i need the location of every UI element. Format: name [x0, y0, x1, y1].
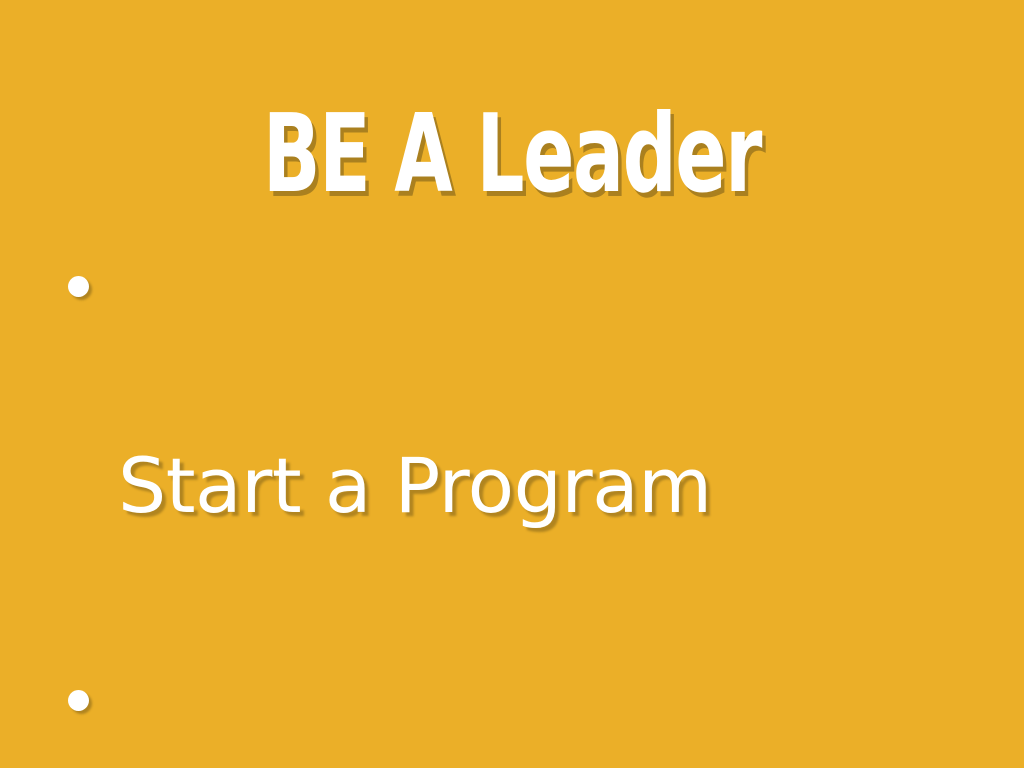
bullet-item-1: Start a Program [56, 236, 986, 636]
bullet-item-1-label: Start a Program [118, 436, 986, 536]
presentation-slide: BE A Leader Start a Program Or Become a … [0, 0, 1024, 768]
bullet-list: Start a Program Or Become a Leader in a … [56, 236, 986, 768]
dot-bullet-icon [68, 276, 89, 297]
dot-bullet-icon [68, 690, 89, 711]
bullet-item-2: Or Become a Leader in a Program [56, 650, 986, 768]
slide-title: BE A Leader [154, 98, 871, 211]
